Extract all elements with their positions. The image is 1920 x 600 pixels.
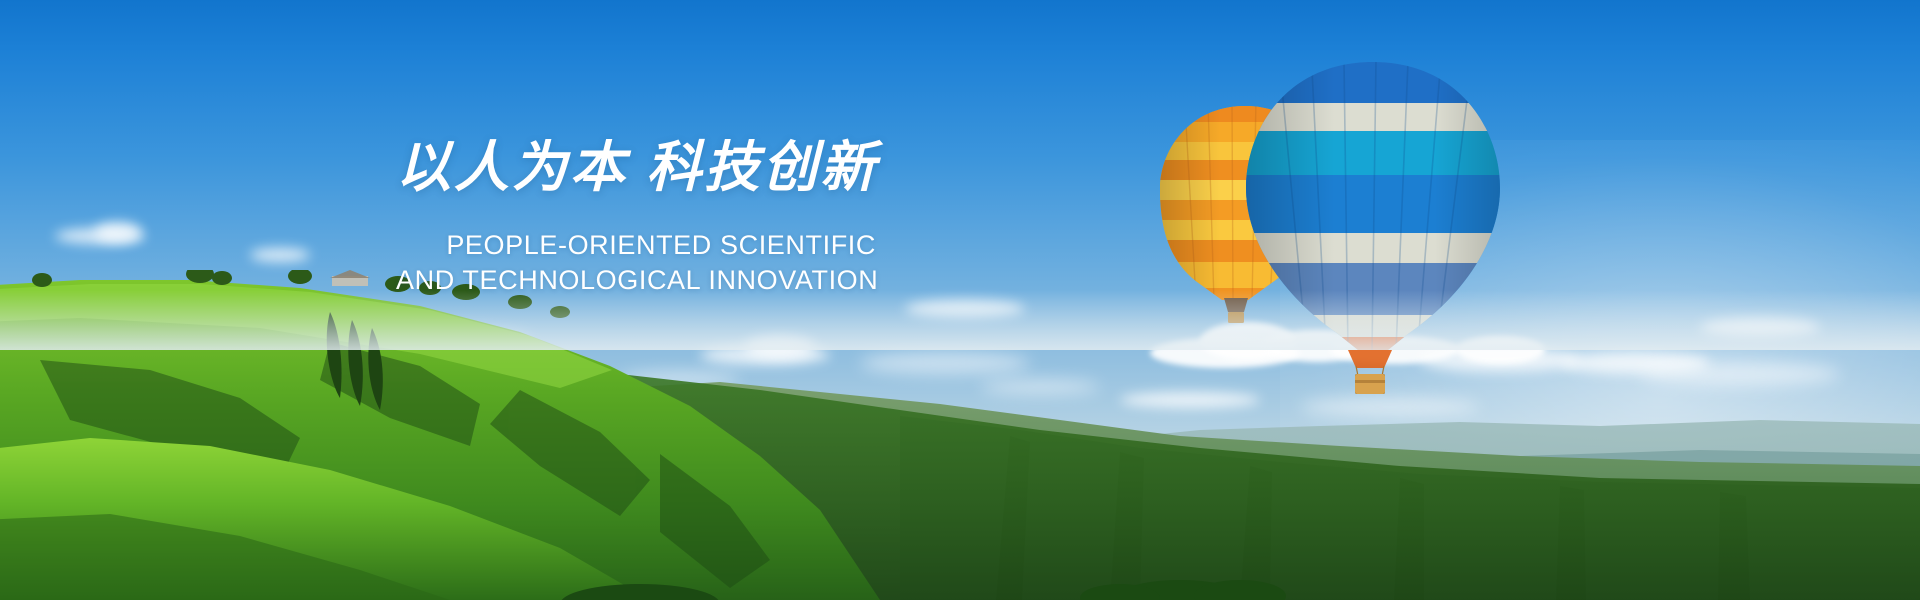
hero-banner: 以人为本 科技创新 PEOPLE-ORIENTED SCIENTIFIC AND…	[0, 0, 1920, 600]
horizon-haze	[0, 290, 1920, 350]
